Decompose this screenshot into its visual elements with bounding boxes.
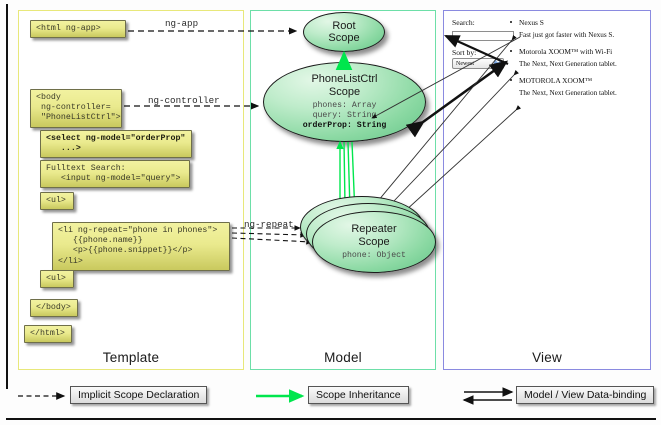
scope-ellipse-root: Root Scope bbox=[303, 12, 385, 52]
phone-list: Nexus S Fast just got faster with Nexus … bbox=[510, 18, 644, 105]
code-box-select-tag: <select ng-model="orderProp" ...> bbox=[40, 130, 192, 158]
bullet-icon bbox=[510, 79, 512, 81]
bullet-icon bbox=[510, 21, 512, 23]
scope-title-phonelistctrl: PhoneListCtrl Scope bbox=[311, 73, 377, 98]
legend-label-scope-inheritance: Scope Inheritance bbox=[308, 386, 409, 404]
panel-title-view: View bbox=[444, 350, 650, 365]
edge-label-ng-repeat: ng-repeat bbox=[244, 219, 294, 230]
code-box-li-ng-repeat: <li ng-repeat="phone in phones"> {{phone… bbox=[52, 222, 230, 271]
phone-name: Nexus S bbox=[519, 18, 644, 27]
phone-name: MOTOROLA XOOM™ bbox=[519, 76, 644, 85]
list-item: MOTOROLA XOOM™ The Next, Next Generation… bbox=[510, 76, 644, 98]
sort-by-select[interactable]: Newest ◆ bbox=[452, 58, 504, 69]
code-box-body-tag: <body ng-controller= "PhoneListCtrl"> bbox=[30, 89, 122, 128]
code-box-body-close: </body> bbox=[30, 299, 78, 317]
edge-label-ng-controller: ng-controller bbox=[148, 95, 220, 106]
scope-props-phonelistctrl: phones: Array query: String orderProp: S… bbox=[303, 101, 387, 131]
view-app-preview: Search: Sort by: Newest ◆ Nexus S Fast j… bbox=[452, 18, 644, 69]
code-box-ul-open: <ul> bbox=[40, 192, 74, 210]
scope-ellipse-phonelistctrl: PhoneListCtrl Scope phones: Array query:… bbox=[263, 62, 426, 142]
phone-snippet: Fast just got faster with Nexus S. bbox=[519, 31, 644, 40]
scope-ellipse-repeater-front: Repeater Scope phone: Object bbox=[312, 211, 436, 273]
phone-snippet: The Next, Next Generation tablet. bbox=[519, 89, 644, 98]
scope-title-repeater: Repeater Scope bbox=[351, 223, 396, 248]
search-input[interactable] bbox=[452, 31, 514, 41]
list-item: Nexus S Fast just got faster with Nexus … bbox=[510, 18, 644, 40]
scope-props-bold-orderprop: orderProp: String bbox=[303, 121, 387, 130]
code-box-input-tag: Fulltext Search: <input ng-model="query"… bbox=[40, 160, 190, 188]
bullet-icon bbox=[510, 50, 512, 52]
code-box-ul-close: <ul> bbox=[40, 270, 74, 288]
scope-props-repeater: phone: Object bbox=[342, 251, 406, 261]
frame-left-rule bbox=[6, 4, 8, 389]
legend: Implicit Scope Declaration Scope Inherit… bbox=[8, 384, 656, 416]
legend-item-model-view-data-binding: Model / View Data-binding bbox=[516, 384, 654, 406]
legend-item-scope-inheritance: Scope Inheritance bbox=[308, 384, 409, 406]
frame-bottom-rule bbox=[6, 418, 656, 420]
panel-title-model: Model bbox=[251, 350, 435, 365]
scope-title-root: Root Scope bbox=[328, 20, 359, 45]
phone-snippet: The Next, Next Generation tablet. bbox=[519, 60, 644, 69]
legend-label-implicit-scope-declaration: Implicit Scope Declaration bbox=[70, 386, 207, 404]
panel-title-template: Template bbox=[19, 350, 243, 365]
code-box-html-tag: <html ng-app> bbox=[30, 20, 126, 38]
diagram-canvas: Template Model View <html ng-app> <body … bbox=[0, 0, 661, 425]
scope-props-plain-phonelistctrl: phones: Array query: String bbox=[313, 101, 377, 120]
legend-label-model-view-data-binding: Model / View Data-binding bbox=[516, 386, 654, 404]
code-box-html-close: </html> bbox=[24, 325, 72, 343]
sort-by-selected-value: Newest bbox=[456, 61, 474, 67]
chevron-updown-icon: ◆ bbox=[494, 60, 502, 69]
legend-item-implicit-scope-declaration: Implicit Scope Declaration bbox=[70, 384, 207, 406]
phone-name: Motorola XOOM™ with Wi-Fi bbox=[519, 47, 644, 56]
edge-label-ng-app: ng-app bbox=[165, 18, 198, 29]
list-item: Motorola XOOM™ with Wi-Fi The Next, Next… bbox=[510, 47, 644, 69]
